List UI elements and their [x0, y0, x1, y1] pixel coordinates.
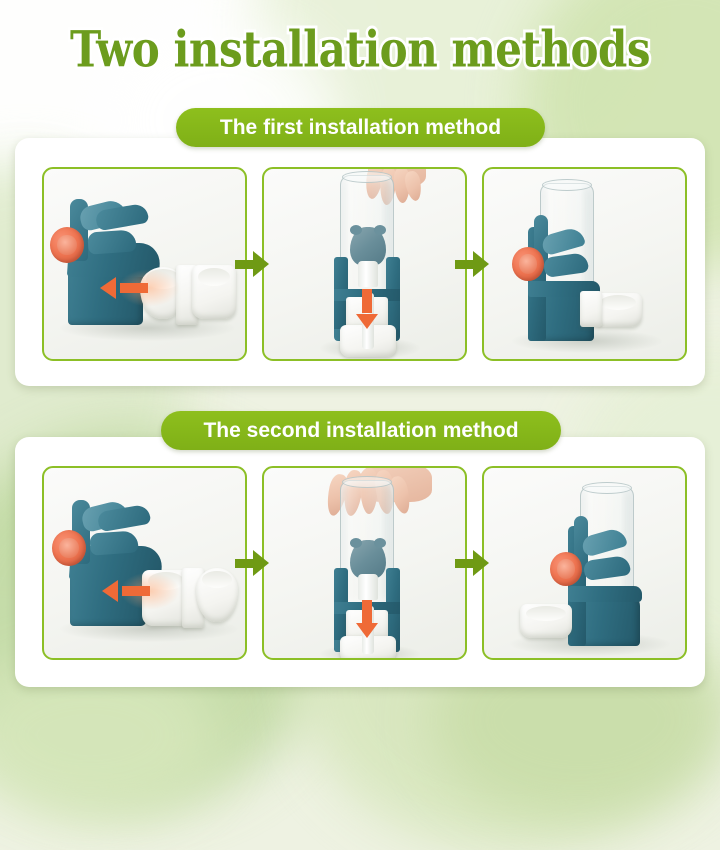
- photo-panel-second-step-2: [262, 466, 467, 660]
- orange-knob-icon: [550, 552, 582, 586]
- orange-direction-arrow-down: [356, 600, 378, 638]
- photo-panel-first-step-2: [262, 167, 467, 361]
- banner-first-method: The first installation method: [176, 108, 545, 147]
- orange-knob-icon: [52, 530, 86, 566]
- orange-direction-arrow-left: [102, 580, 150, 602]
- banner-second-method: The second installation method: [161, 411, 561, 450]
- arrow-step2-to-step3: [455, 550, 489, 576]
- photo-panel-first-step-3: [482, 167, 687, 361]
- page-title: Two installation methods: [70, 20, 650, 78]
- arrow-step1-to-step2: [235, 251, 269, 277]
- photo-panel-second-step-1: [42, 466, 247, 660]
- orange-direction-arrow-down: [356, 289, 378, 329]
- page-title-wrapper: Two installation methods: [0, 18, 720, 80]
- photo-panel-first-step-1: [42, 167, 247, 361]
- arrow-step1-to-step2: [235, 550, 269, 576]
- orange-knob-icon: [512, 247, 544, 281]
- photo-panel-second-step-3: [482, 466, 687, 660]
- arrow-step2-to-step3: [455, 251, 489, 277]
- orange-direction-arrow-left: [100, 277, 148, 299]
- orange-knob-icon: [50, 227, 84, 263]
